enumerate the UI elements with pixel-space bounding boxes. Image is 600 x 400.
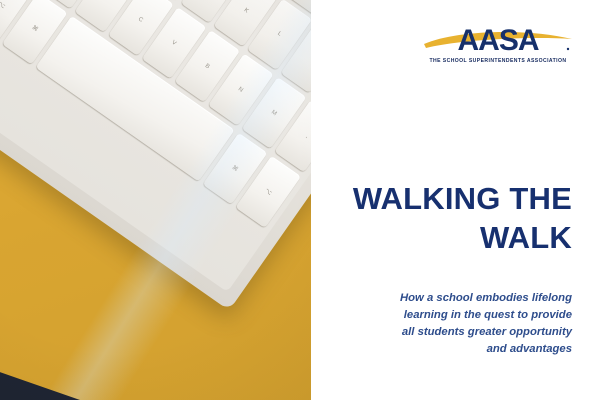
page-subtitle-line-1: How a school embodies lifelong xyxy=(337,290,572,307)
cover-text-panel: AASA THE SCHOOL SUPERINTENDENTS ASSOCIAT… xyxy=(311,0,600,400)
cover-photo: ~ 1 2 3 4 5 6 7 8 9 0 - = tab Q W E R T … xyxy=(0,0,311,400)
logo-registered-dot xyxy=(567,48,569,50)
page-title: WALKING THE WALK xyxy=(332,179,572,258)
report-cover-page: ~ 1 2 3 4 5 6 7 8 9 0 - = tab Q W E R T … xyxy=(0,0,600,400)
aasa-logo: AASA THE SCHOOL SUPERINTENDENTS ASSOCIAT… xyxy=(422,22,574,64)
aasa-wordmark-mark: AASA xyxy=(422,22,574,56)
page-subtitle: How a school embodies lifelong learning … xyxy=(337,290,572,359)
aasa-logo-tagline: THE SCHOOL SUPERINTENDENTS ASSOCIATION xyxy=(422,58,574,64)
page-title-line-2: WALK xyxy=(332,218,572,257)
page-title-line-1: WALKING THE xyxy=(332,179,572,218)
page-subtitle-line-2: learning in the quest to provide xyxy=(337,307,572,324)
page-subtitle-line-3: all students greater opportunity xyxy=(337,324,572,341)
logo-wordmark-text: AASA xyxy=(457,24,538,56)
page-subtitle-line-4: and advantages xyxy=(337,341,572,358)
aasa-logo-icon: AASA xyxy=(422,22,574,56)
